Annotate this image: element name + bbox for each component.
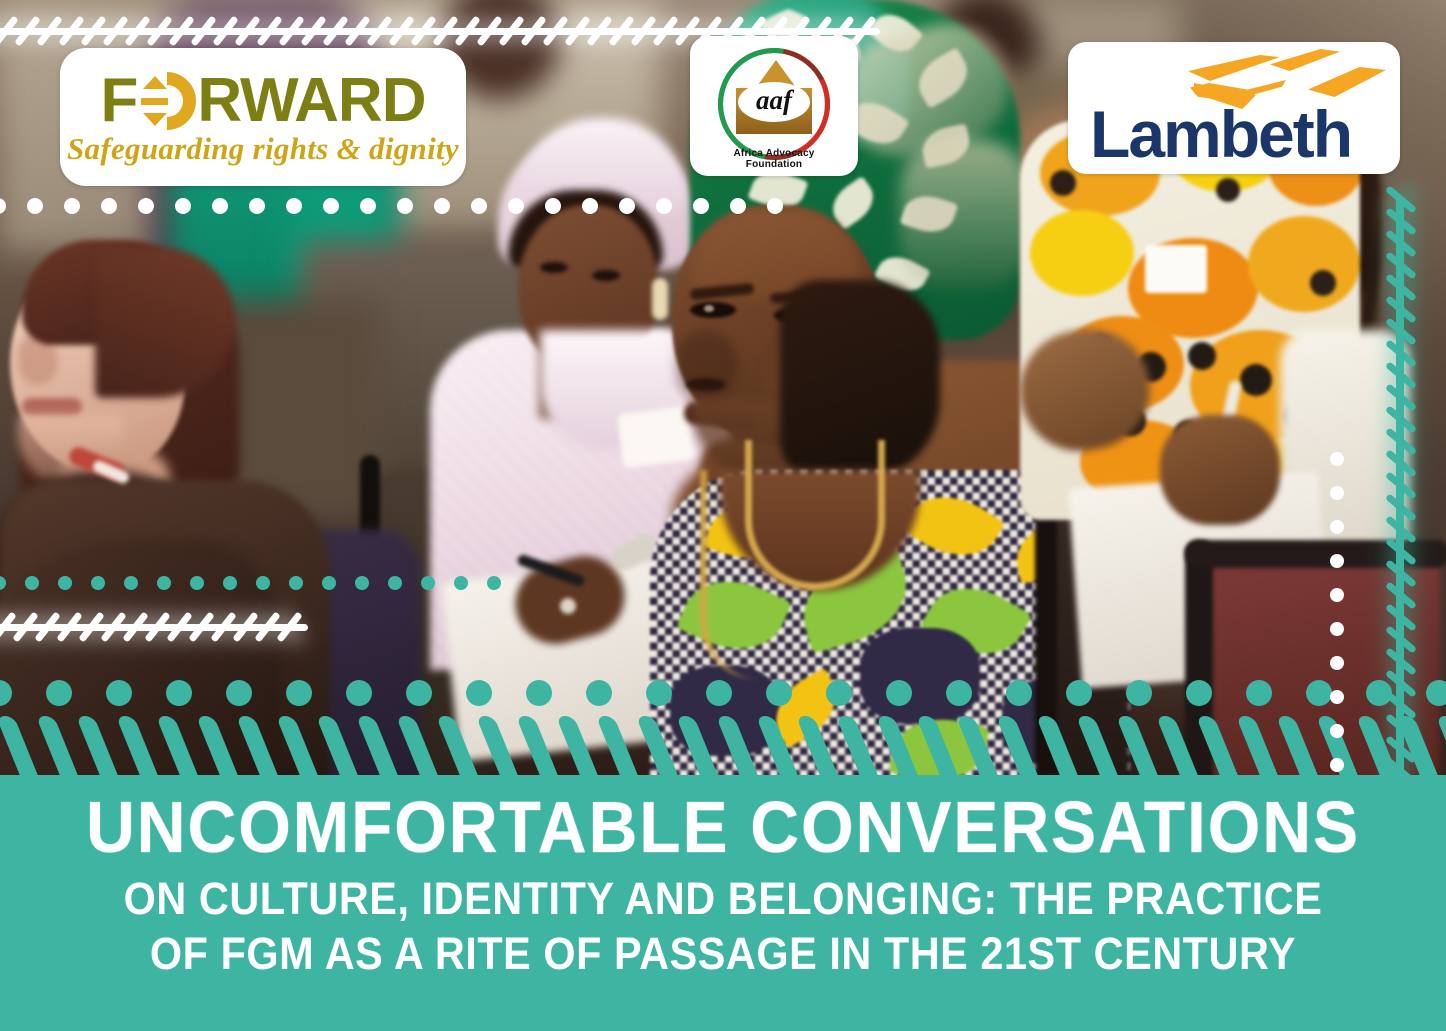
forward-tagline: Safeguarding rights & dignity	[67, 131, 459, 167]
logo-forward[interactable]: F RWARD Safeguarding rights & dignity	[60, 48, 466, 186]
page-subtitle-line-1: ON CULTURE, IDENTITY AND BELONGING: THE …	[58, 872, 1388, 927]
attendee-3-eye-highlight	[704, 305, 714, 312]
chair-right-frame	[1185, 540, 1213, 790]
poster-root: UNCOMFORTABLE CONVERSATIONS ON CULTURE, …	[0, 0, 1446, 1031]
logo-lambeth[interactable]: Lambeth	[1068, 42, 1400, 174]
forward-word-part-2: RWARD	[197, 70, 425, 132]
attendee-2-earring	[652, 278, 668, 320]
chair-right-top-rail	[1185, 540, 1446, 568]
attendee-2-eye-right	[592, 270, 620, 281]
forward-word-part-1: F	[101, 70, 138, 132]
chair-right	[1200, 560, 1440, 790]
attendee-2-ring	[560, 598, 576, 614]
attendee-3-gold-necklace-long	[700, 470, 810, 680]
page-title: UNCOMFORTABLE CONVERSATIONS	[43, 792, 1402, 864]
attendee-4-hand	[1160, 415, 1280, 525]
lambeth-wave-icon	[1188, 49, 1378, 99]
attendee-1-fur-collar-2	[0, 540, 280, 790]
page-subtitle-line-2: OF FGM AS A RITE OF PASSAGE IN THE 21ST …	[58, 927, 1388, 982]
attendee-2-eye-left	[540, 262, 568, 273]
attendee-4-name-badge	[1145, 245, 1207, 293]
title-block: UNCOMFORTABLE CONVERSATIONS ON CULTURE, …	[0, 792, 1446, 982]
aaf-emblem-icon: aaf Africa Advocacy Foundation	[704, 44, 844, 168]
lambeth-wordmark: Lambeth	[1090, 101, 1351, 167]
attendee-1-lips	[22, 398, 82, 416]
aaf-name: Africa Advocacy Foundation	[704, 148, 844, 170]
forward-arrow-icon	[138, 72, 196, 130]
logo-africa-advocacy-foundation[interactable]: aaf Africa Advocacy Foundation	[690, 36, 858, 176]
forward-wordmark: F RWARD	[101, 67, 426, 135]
attendee-3-headwrap-fold-2	[900, 140, 1030, 290]
aaf-monogram: aaf	[738, 78, 810, 122]
attendee-3-nostril	[686, 378, 726, 391]
